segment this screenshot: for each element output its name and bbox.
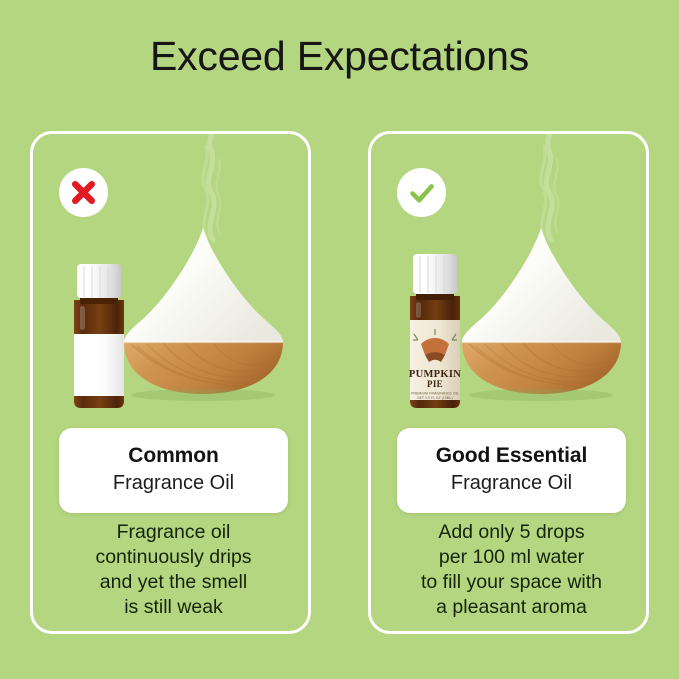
pumpkin-pie-illustration-icon xyxy=(413,329,457,362)
panel-description-common: Fragrance oil continuously drips and yet… xyxy=(41,520,306,620)
description-line: Fragrance oil xyxy=(41,520,306,545)
description-line: per 100 ml water xyxy=(379,545,644,570)
svg-text:NET 0.5 FL OZ (15ML): NET 0.5 FL OZ (15ML) xyxy=(417,396,452,400)
page-title: Exceed Expectations xyxy=(0,34,679,79)
panel-description-good-essential: Add only 5 drops per 100 ml water to fil… xyxy=(379,520,644,620)
description-line: a pleasant aroma xyxy=(379,595,644,620)
status-badge-positive xyxy=(397,168,446,217)
mist-vapor-icon xyxy=(181,132,241,242)
product-name-card-good-essential: Good Essential Fragrance Oil xyxy=(397,428,626,513)
comparison-panel-common: Common Fragrance Oil Fragrance oil conti… xyxy=(30,131,311,634)
description-line: and yet the smell xyxy=(41,570,306,595)
aroma-diffuser-icon xyxy=(449,222,634,407)
status-badge-negative xyxy=(59,168,108,217)
description-line: Add only 5 drops xyxy=(379,520,644,545)
product-kind: Fragrance Oil xyxy=(407,470,616,496)
product-brand: Good Essential xyxy=(407,443,616,469)
generic-oil-bottle-icon xyxy=(63,262,135,410)
product-kind: Fragrance Oil xyxy=(69,470,278,496)
product-name-card-common: Common Fragrance Oil xyxy=(59,428,288,513)
infographic-canvas: Exceed Expectations xyxy=(0,0,679,679)
description-line: continuously drips xyxy=(41,545,306,570)
description-line: is still weak xyxy=(41,595,306,620)
comparison-panel-good-essential: PUMPKIN PIE PREMIUM FRAGRANCE OIL NET 0.… xyxy=(368,131,649,634)
description-line: to fill your space with xyxy=(379,570,644,595)
svg-text:PREMIUM FRAGRANCE OIL: PREMIUM FRAGRANCE OIL xyxy=(411,392,459,396)
svg-text:PUMPKIN: PUMPKIN xyxy=(409,369,461,380)
check-mark-icon xyxy=(407,178,437,208)
cross-mark-icon xyxy=(70,179,97,206)
aroma-diffuser-icon xyxy=(111,222,296,407)
mist-vapor-icon xyxy=(519,132,579,242)
svg-text:PIE: PIE xyxy=(427,379,443,389)
pumpkin-pie-oil-bottle-icon: PUMPKIN PIE PREMIUM FRAGRANCE OIL NET 0.… xyxy=(399,252,471,410)
product-brand: Common xyxy=(69,443,278,469)
